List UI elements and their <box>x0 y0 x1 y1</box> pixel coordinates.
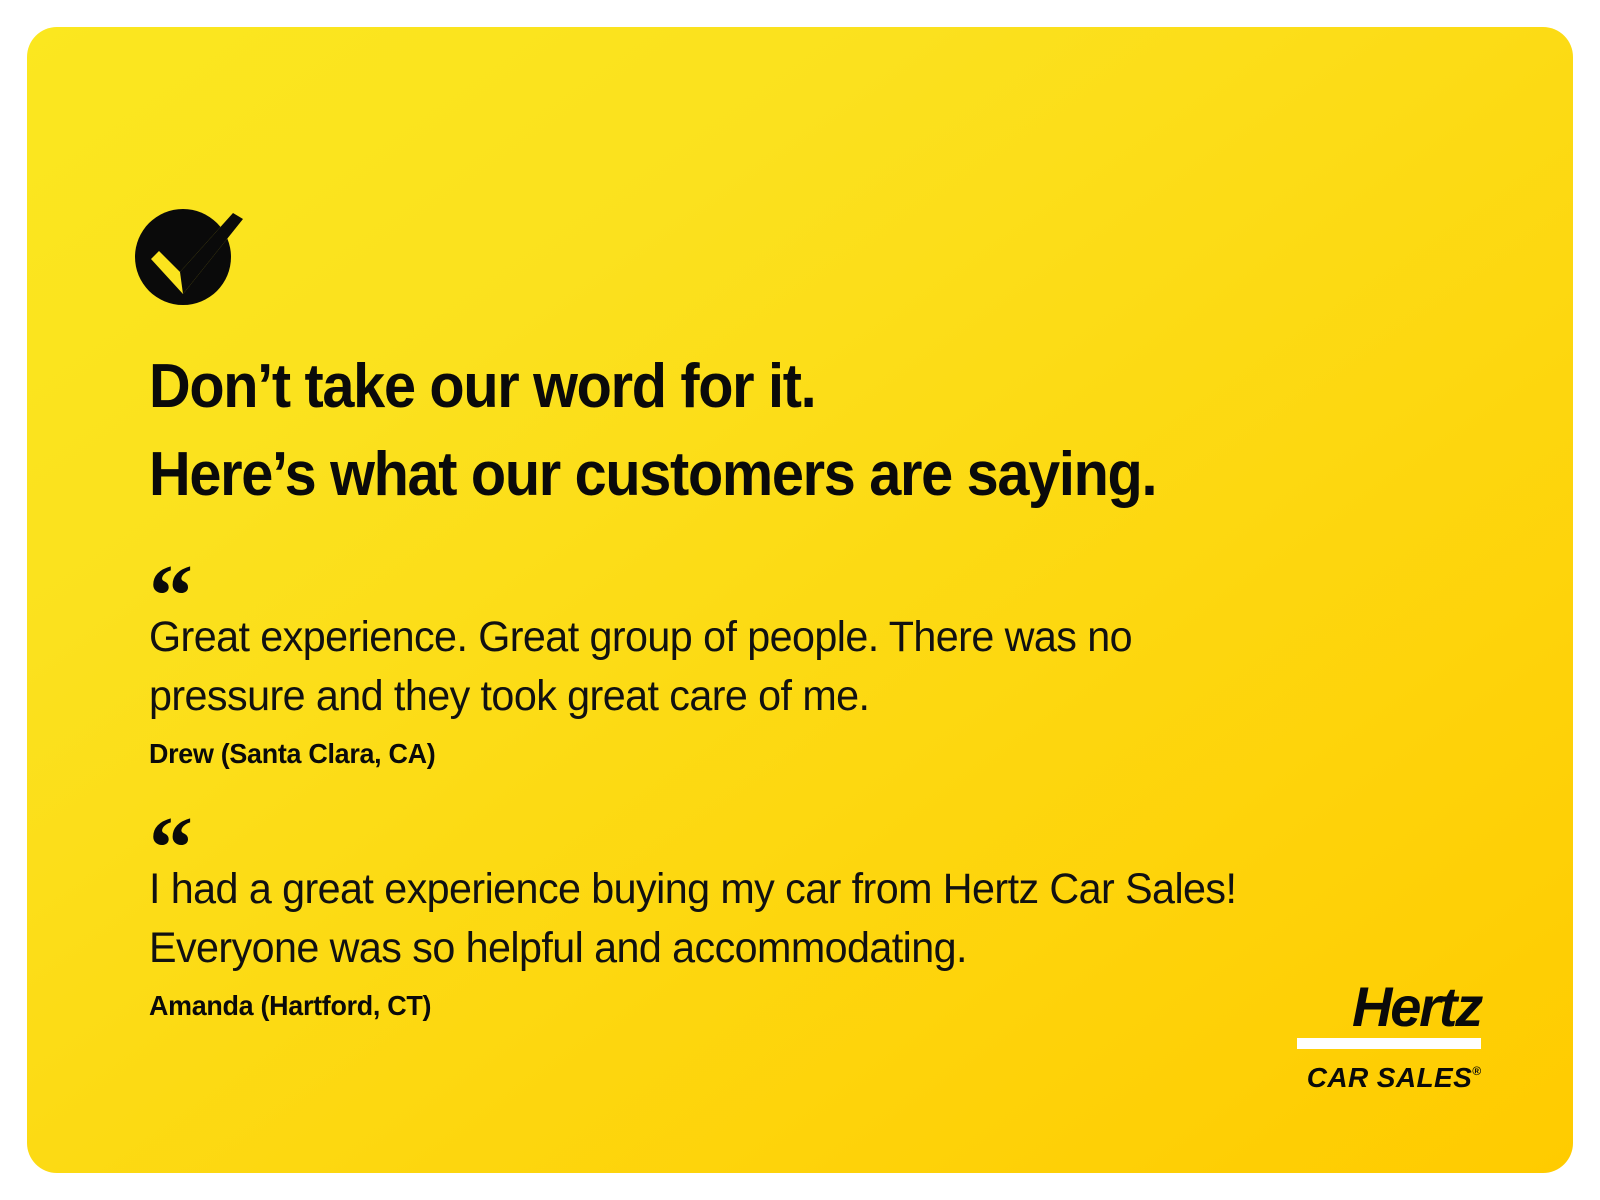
logo-subtitle-text: CAR SALES <box>1307 1062 1472 1093</box>
headline-line-1: Don’t take our word for it. <box>149 343 1395 431</box>
testimonial-quote-line: Everyone was so helpful and accommodatin… <box>149 919 1435 978</box>
hertz-car-sales-logo: Hertz CAR SALES® <box>1281 978 1481 1095</box>
testimonial-quote-line: Great experience. Great group of people.… <box>149 608 1435 667</box>
headline-line-2: Here’s what our customers are saying. <box>149 431 1395 519</box>
testimonial-quote: I had a great experience buying my car f… <box>149 860 1435 978</box>
quote-mark-icon: “ <box>149 806 1489 852</box>
quote-mark-icon: “ <box>149 554 1489 600</box>
testimonial-quote-line: pressure and they took great care of me. <box>149 667 1435 726</box>
testimonial-quote: Great experience. Great group of people.… <box>149 608 1435 726</box>
headline: Don’t take our word for it. Here’s what … <box>149 343 1489 519</box>
testimonial-attribution: Amanda (Hartford, CT) <box>149 990 1435 1022</box>
testimonial-quote-line: I had a great experience buying my car f… <box>149 860 1435 919</box>
logo-underline-bar <box>1297 1038 1481 1049</box>
hertz-wordmark: Hertz <box>1281 978 1481 1036</box>
testimonial-attribution: Drew (Santa Clara, CA) <box>149 738 1435 770</box>
check-circle-icon <box>125 199 255 317</box>
registered-trademark-icon: ® <box>1472 1064 1481 1078</box>
testimonial-item: “ Great experience. Great group of peopl… <box>149 554 1489 770</box>
logo-subtitle: CAR SALES® <box>1281 1054 1481 1095</box>
testimonial-card: Don’t take our word for it. Here’s what … <box>27 27 1573 1173</box>
